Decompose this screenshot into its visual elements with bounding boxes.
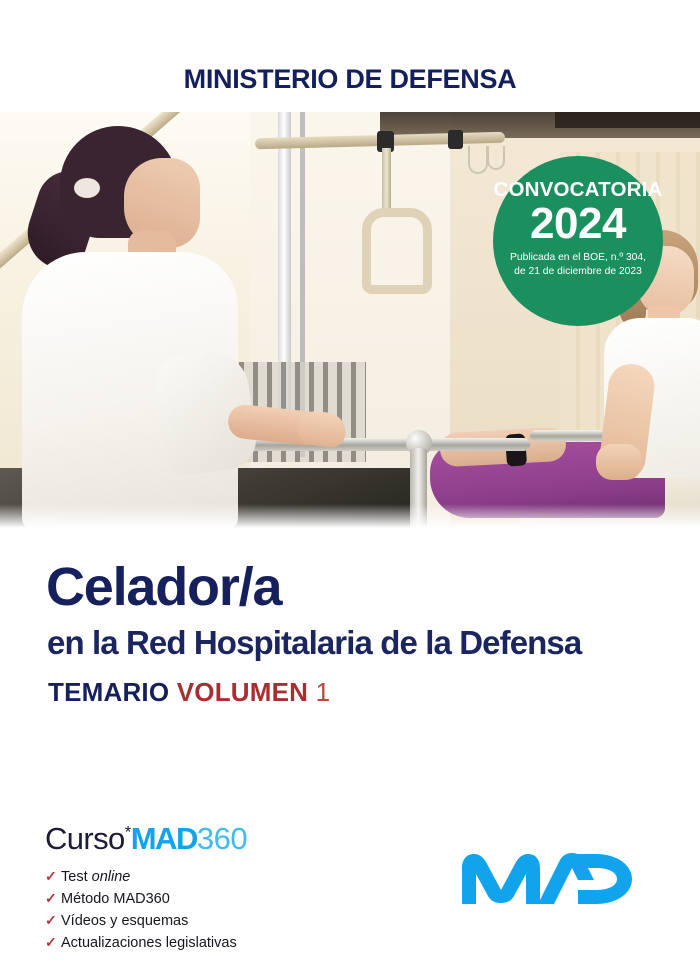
book-title: Celador/a	[46, 560, 281, 614]
course-word: Curso	[45, 821, 125, 856]
convocatoria-badge: CONVOCATORIA 2024 Publicada en el BOE, n…	[493, 156, 663, 326]
check-icon: ✓	[45, 888, 61, 909]
feature-text-italic: online	[92, 869, 131, 885]
mad-logo	[460, 852, 640, 906]
photo-hook-2	[487, 146, 505, 170]
list-item: ✓Test online	[45, 866, 237, 888]
book-subtitle: en la Red Hospitalaria de la Defensa	[47, 626, 581, 659]
photo-nurse-hair-tie	[74, 178, 100, 198]
list-item: ✓Vídeos y esquemas	[45, 910, 237, 932]
volume-line: TEMARIO VOLUMEN 1	[48, 679, 330, 705]
badge-note: Publicada en el BOE, n.º 304, de 21 de d…	[493, 251, 663, 277]
feature-list: ✓Test online ✓Método MAD360 ✓Vídeos y es…	[45, 866, 237, 954]
check-icon: ✓	[45, 866, 61, 887]
photo-trapeze-clamp-2	[448, 130, 463, 149]
feature-text: Test	[61, 869, 92, 885]
photo-trapeze-handle	[362, 208, 432, 294]
feature-text: Vídeos y esquemas	[61, 913, 188, 929]
badge-title: CONVOCATORIA	[493, 180, 663, 201]
publisher-line: MINISTERIO DE DEFENSA	[0, 64, 700, 95]
photo-bottom-fade	[0, 504, 700, 530]
course-brand: Curso*MAD360	[45, 823, 247, 854]
volume-number: 1	[316, 677, 331, 707]
feature-text: Actualizaciones legislativas	[61, 935, 237, 951]
course-brand-mad: MAD	[131, 821, 197, 856]
photo-nurse2-hand	[596, 444, 642, 480]
check-icon: ✓	[45, 910, 61, 931]
list-item: ✓Método MAD360	[45, 888, 237, 910]
feature-text: Método MAD360	[61, 891, 170, 907]
volume-word: VOLUMEN	[177, 677, 308, 707]
check-icon: ✓	[45, 932, 61, 953]
badge-note-line-2: de 21 de diciembre de 2023	[514, 266, 642, 277]
badge-note-line-1: Publicada en el BOE, n.º 304,	[510, 252, 646, 263]
photo-trapeze-strap	[382, 148, 391, 213]
photo-hook	[468, 146, 488, 174]
badge-year: 2024	[493, 202, 663, 247]
book-cover: MINISTERIO DE DEFENSA	[0, 0, 700, 976]
photo-ceiling-beam-2	[555, 112, 700, 128]
course-brand-360: 360	[197, 821, 247, 856]
volume-prefix: TEMARIO	[48, 677, 169, 707]
list-item: ✓Actualizaciones legislativas	[45, 932, 237, 954]
